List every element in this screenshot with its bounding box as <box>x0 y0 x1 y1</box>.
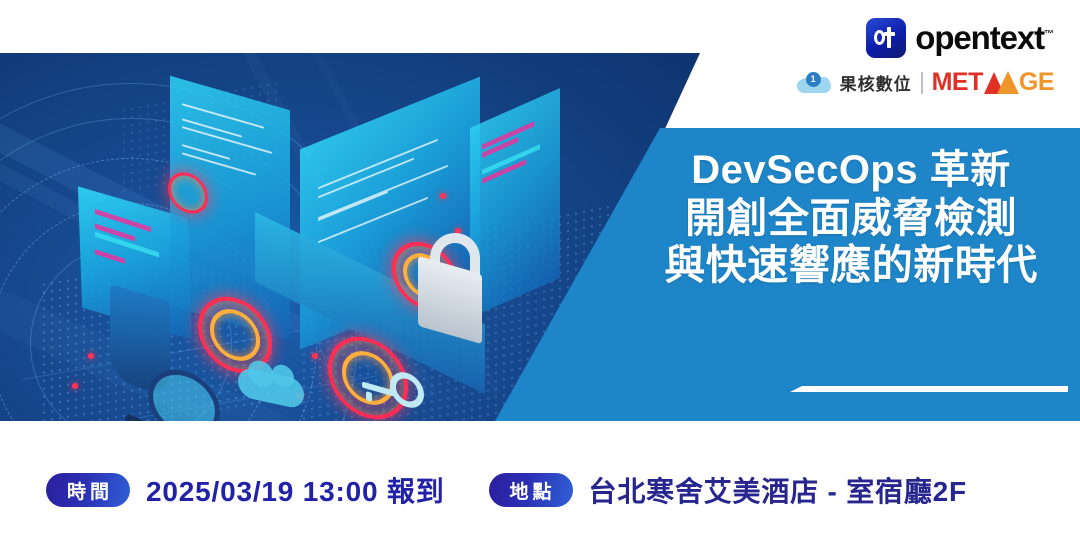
event-time-value: 2025/03/19 13:00 報到 <box>146 470 445 510</box>
title-line-2: 開創全面威脅檢測 <box>636 198 1066 240</box>
event-venue-group: 地點 台北寒舍艾美酒店 - 室宿廳2F <box>489 470 967 510</box>
event-venue-value: 台北寒舍艾美酒店 - 室宿廳2F <box>589 470 967 510</box>
partner-logo-row: 1 果核數位 MET GE <box>797 68 1054 97</box>
venue-label-pill: 地點 <box>489 473 573 507</box>
ot-t-crossbar-glyph <box>884 32 895 36</box>
key-icon <box>366 391 372 402</box>
metaage-logo[interactable]: MET GE <box>932 68 1054 97</box>
alert-dot <box>440 193 446 199</box>
event-info-bar: 時間 2025/03/19 13:00 報到 地點 台北寒舍艾美酒店 - 室宿廳… <box>0 440 1080 540</box>
cloud-badge: 1 <box>806 72 821 87</box>
time-label-pill: 時間 <box>46 473 130 507</box>
alert-dot <box>72 383 78 389</box>
metaage-prefix: MET <box>932 68 983 97</box>
logo-divider <box>921 72 923 94</box>
opentext-logo[interactable]: opentext™ <box>797 18 1054 58</box>
metaage-mountain-icon <box>984 71 1018 94</box>
ot-t-glyph <box>887 27 891 48</box>
opentext-wordmark: opentext™ <box>915 19 1054 57</box>
title-line-1: DevSecOps 革新 <box>636 150 1066 191</box>
opentext-monogram-icon <box>866 18 906 58</box>
event-time-group: 時間 2025/03/19 13:00 報到 <box>46 470 445 510</box>
alert-dot <box>88 353 94 359</box>
logo-area: opentext™ 1 果核數位 MET GE <box>797 18 1054 97</box>
title-line-3: 與快速響應的新時代 <box>636 245 1066 287</box>
guohe-wordmark: 果核數位 <box>840 70 912 95</box>
event-title: DevSecOps 革新 開創全面威脅檢測 與快速響應的新時代 <box>636 150 1066 286</box>
opentext-wordmark-text: opentext <box>915 19 1044 56</box>
event-banner: DevSecOps 革新 開創全面威脅檢測 與快速響應的新時代 opentext… <box>0 0 1080 540</box>
device-monitor-right <box>470 88 560 318</box>
mountain-peak <box>997 71 1019 94</box>
alert-dot <box>312 353 318 359</box>
metaage-suffix: GE <box>1019 68 1054 97</box>
title-divider-rule <box>790 386 1068 392</box>
trademark-symbol: ™ <box>1044 29 1054 40</box>
guohe-cloud-icon: 1 <box>797 72 831 94</box>
